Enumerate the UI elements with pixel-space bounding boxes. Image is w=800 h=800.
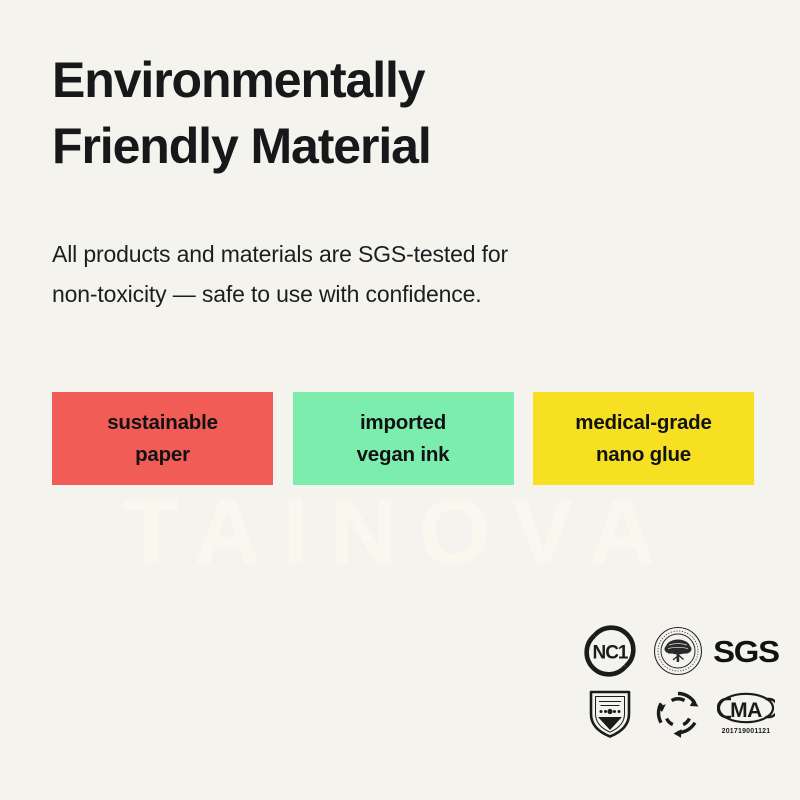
tag-label-line-2: paper [135, 439, 190, 470]
tag-label-line-2: vegan ink [357, 439, 450, 470]
svg-text:NC1: NC1 [592, 643, 628, 664]
page-subtitle-line-2: non-toxicity — safe to use with confiden… [52, 275, 672, 315]
forest-seal-icon [647, 622, 709, 680]
sgs-logo-text: SGS [713, 636, 779, 667]
page-subtitle: All products and materials are SGS-teste… [52, 235, 672, 314]
brand-watermark: TAINOVA [0, 486, 800, 578]
nc1-certification-icon: NC1 [579, 622, 641, 680]
promo-banner: TAINOVA Environmentally Friendly Materia… [0, 0, 800, 800]
certification-badge-grid: NC1 [576, 620, 780, 744]
tag-label-line-1: medical-grade [575, 407, 711, 438]
tag-label-line-1: imported [360, 407, 446, 438]
page-subtitle-line-1: All products and materials are SGS-teste… [52, 235, 672, 275]
shield-certification-icon [579, 684, 641, 742]
recycle-arrows-icon [647, 684, 709, 742]
tag-medical-grade-nano-glue: medical-grade nano glue [533, 392, 754, 485]
page-title-line-2: Friendly Material [52, 114, 712, 180]
cma-certification-icon: MA 201719001121 [715, 684, 777, 742]
svg-text:MA: MA [730, 699, 762, 722]
sgs-logo-icon: SGS [715, 622, 777, 680]
tag-label-line-1: sustainable [107, 407, 218, 438]
page-title-line-1: Environmentally [52, 48, 712, 114]
tag-imported-vegan-ink: imported vegan ink [293, 392, 514, 485]
cma-certificate-number: 201719001121 [722, 728, 771, 735]
tag-label-line-2: nano glue [596, 439, 691, 470]
material-tag-row: sustainable paper imported vegan ink med… [52, 392, 754, 485]
page-title: Environmentally Friendly Material [52, 48, 712, 179]
tag-sustainable-paper: sustainable paper [52, 392, 273, 485]
